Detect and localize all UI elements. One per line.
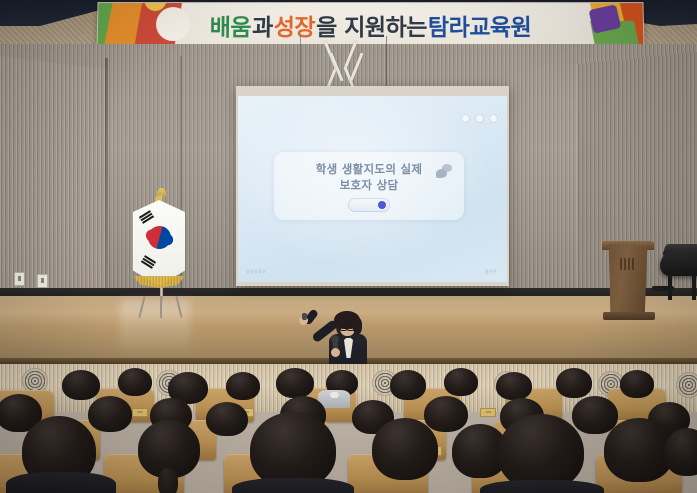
audience-shoulders [6, 472, 116, 493]
audience-head [498, 414, 584, 490]
audience-head [88, 396, 132, 432]
presenter-hair [353, 318, 362, 334]
flag-stand [140, 296, 182, 318]
podium-slats [620, 258, 636, 270]
audience-shoulders [232, 478, 354, 493]
slide-toggle-graphic [348, 198, 390, 212]
face-mask [330, 392, 339, 398]
piano-leg [692, 274, 696, 300]
ponytail [158, 468, 178, 493]
slide-dot-icon [475, 114, 484, 123]
audience-head [444, 368, 478, 396]
audience-head [424, 396, 468, 432]
banner-segment-3: 성장 [274, 8, 316, 42]
audience-head [390, 370, 426, 400]
audience-head [276, 368, 314, 398]
slide-corner-dots [461, 114, 498, 123]
wall-outlet [14, 272, 25, 286]
slide-dot-icon [461, 114, 470, 123]
audience-shoulders [480, 480, 604, 493]
audience-head [250, 412, 336, 488]
podium-base [603, 312, 655, 320]
grand-piano [660, 250, 697, 276]
slide-content-card: 학생 생활지도의 실제 보호자 상담 [274, 152, 464, 220]
audience-head [62, 370, 100, 400]
podium [606, 244, 650, 316]
banner-segment-2: 과 [252, 8, 273, 42]
slide-footer-right: 홍선주 [485, 269, 497, 275]
audience-head [664, 428, 697, 476]
projection-screen: 학생 생활지도의 실제 보호자 상담 남외중학교 홍선주 [238, 96, 507, 282]
wall-seam [105, 58, 108, 308]
audience-head [118, 368, 152, 396]
glasses-icon [340, 325, 354, 329]
audience-head [206, 402, 248, 436]
slide-subtitle: 보호자 상담 [274, 177, 464, 193]
presenter-mic-hand [331, 348, 340, 357]
venue-banner: 배움 과 성장 을 지원하는 탐라교육원 [96, 2, 644, 48]
slide-footer-left: 남외중학교 [246, 269, 266, 275]
audience-head [226, 372, 260, 400]
wall-panel-left [0, 56, 108, 308]
audience-head [556, 368, 592, 398]
banner-segment-1: 배움 [210, 8, 252, 42]
seat-number-plate: 131 [132, 408, 148, 417]
auditorium-photo: 배움 과 성장 을 지원하는 탐라교육원 [0, 0, 697, 493]
banner-text: 배움 과 성장 을 지원하는 탐라교육원 [194, 3, 548, 47]
banner-segment-4: 을 지원하는 [316, 8, 427, 42]
banner-right-graphic [543, 3, 644, 47]
microphone-head [331, 335, 339, 343]
audience-head [496, 372, 532, 400]
slide-dot-icon [489, 114, 498, 123]
audience-head [372, 418, 438, 480]
speech-bubble-icon [436, 164, 452, 178]
seat-number-plate: 129 [480, 408, 496, 417]
banner-segment-5: 탐라교육원 [428, 8, 532, 42]
audience-area: 131 130 129 128 [0, 368, 697, 493]
piano-bench [652, 286, 674, 291]
wall-outlet [37, 274, 48, 288]
audience-head [572, 396, 618, 434]
banner-left-graphic [97, 3, 194, 47]
presentation-clicker [302, 313, 307, 320]
audience-head [620, 370, 654, 398]
